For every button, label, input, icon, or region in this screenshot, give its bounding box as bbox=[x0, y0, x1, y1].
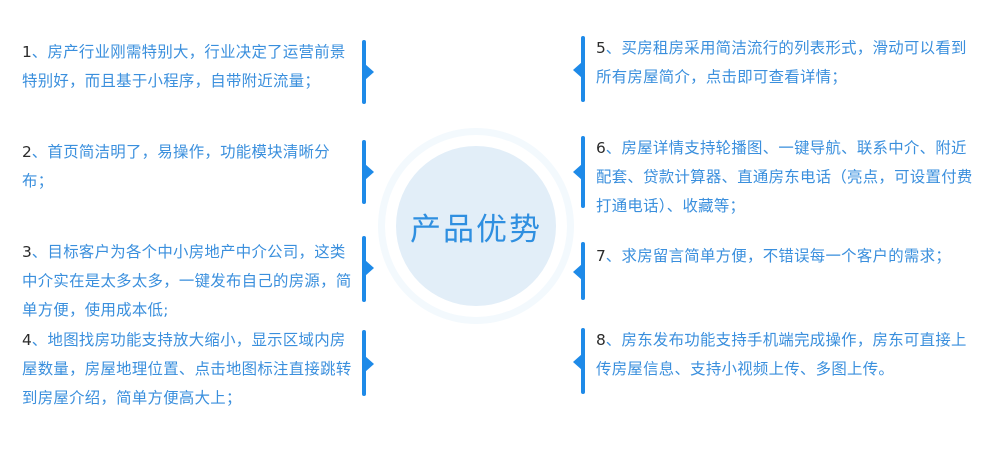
advantage-item-8-body: 房东发布功能支持手机端完成操作，房东可直接上传房屋信息、支持小视频上传、多图上传… bbox=[596, 331, 967, 378]
advantage-item-4-body: 地图找房功能支持放大缩小，显示区域内房屋数量，房屋地理位置、点击地图标注直接跳转… bbox=[22, 331, 352, 407]
advantage-item-2-separator: 、 bbox=[32, 143, 48, 161]
advantage-item-1-text: 1、房产行业刚需特别大，行业决定了运营前景特别好，而且基于小程序，自带附近流量； bbox=[22, 38, 354, 96]
advantage-item-4-separator: 、 bbox=[32, 331, 48, 349]
right-arrow-icon bbox=[365, 356, 374, 372]
advantage-item-8: 8、房东发布功能支持手机端完成操作，房东可直接上传房屋信息、支持小视频上传、多图… bbox=[596, 326, 978, 384]
advantage-item-3-body: 目标客户为各个中小房地产中介公司，这类中介实在是太多太多，一键发布自己的房源，简… bbox=[22, 243, 352, 319]
advantage-item-3: 3、目标客户为各个中小房地产中介公司，这类中介实在是太多太多，一键发布自己的房源… bbox=[22, 238, 360, 325]
advantage-item-2-number: 2 bbox=[22, 143, 32, 161]
connector-bar-7 bbox=[581, 242, 585, 300]
connector-bar-6 bbox=[581, 136, 585, 208]
advantage-item-6-text: 6、房屋详情支持轮播图、一键导航、联系中介、附近配套、贷款计算器、直通房东电话（… bbox=[596, 134, 982, 221]
left-arrow-icon bbox=[573, 264, 582, 280]
connector-bar-5 bbox=[581, 36, 585, 102]
advantage-item-6-body: 房屋详情支持轮播图、一键导航、联系中介、附近配套、贷款计算器、直通房东电话（亮点… bbox=[596, 139, 973, 215]
advantage-item-8-text: 8、房东发布功能支持手机端完成操作，房东可直接上传房屋信息、支持小视频上传、多图… bbox=[596, 326, 978, 384]
advantage-item-2-body: 首页简洁明了，易操作，功能模块清晰分布； bbox=[22, 143, 330, 190]
advantage-item-4: 4、地图找房功能支持放大缩小，显示区域内房屋数量，房屋地理位置、点击地图标注直接… bbox=[22, 326, 354, 413]
right-arrow-icon bbox=[365, 260, 374, 276]
advantage-item-4-text: 4、地图找房功能支持放大缩小，显示区域内房屋数量，房屋地理位置、点击地图标注直接… bbox=[22, 326, 354, 413]
advantage-item-7-text: 7、求房留言简单方便，不错误每一个客户的需求； bbox=[596, 242, 978, 271]
advantage-item-3-text: 3、目标客户为各个中小房地产中介公司，这类中介实在是太多太多，一键发布自己的房源… bbox=[22, 238, 360, 325]
advantage-item-8-number: 8 bbox=[596, 331, 606, 349]
advantage-item-1-separator: 、 bbox=[32, 43, 48, 61]
connector-bar-4 bbox=[362, 330, 366, 396]
left-arrow-icon bbox=[573, 164, 582, 180]
advantage-item-3-number: 3 bbox=[22, 243, 32, 261]
right-arrow-icon bbox=[365, 64, 374, 80]
advantage-item-6: 6、房屋详情支持轮播图、一键导航、联系中介、附近配套、贷款计算器、直通房东电话（… bbox=[596, 134, 982, 221]
advantage-item-7-separator: 、 bbox=[606, 247, 622, 265]
connector-bar-2 bbox=[362, 140, 366, 204]
connector-bar-3 bbox=[362, 236, 366, 302]
right-arrow-icon bbox=[365, 164, 374, 180]
advantage-item-7-number: 7 bbox=[596, 247, 606, 265]
center-circle: 产品优势 bbox=[378, 128, 574, 324]
advantage-item-4-number: 4 bbox=[22, 331, 32, 349]
advantage-item-7-body: 求房留言简单方便，不错误每一个客户的需求； bbox=[622, 247, 952, 265]
advantage-item-6-separator: 、 bbox=[606, 139, 622, 157]
advantage-item-2: 2、首页简洁明了，易操作，功能模块清晰分布； bbox=[22, 138, 354, 196]
advantage-item-8-separator: 、 bbox=[606, 331, 622, 349]
advantage-item-1: 1、房产行业刚需特别大，行业决定了运营前景特别好，而且基于小程序，自带附近流量； bbox=[22, 38, 354, 96]
advantage-item-2-text: 2、首页简洁明了，易操作，功能模块清晰分布； bbox=[22, 138, 354, 196]
advantage-item-1-number: 1 bbox=[22, 43, 32, 61]
connector-bar-1 bbox=[362, 40, 366, 104]
product-advantages-infographic: 产品优势 1、房产行业刚需特别大，行业决定了运营前景特别好，而且基于小程序，自带… bbox=[0, 0, 990, 452]
advantage-item-5: 5、买房租房采用简洁流行的列表形式，滑动可以看到所有房屋简介，点击即可查看详情； bbox=[596, 34, 978, 92]
left-arrow-icon bbox=[573, 62, 582, 78]
advantage-item-5-body: 买房租房采用简洁流行的列表形式，滑动可以看到所有房屋简介，点击即可查看详情； bbox=[596, 39, 967, 86]
advantage-item-1-body: 房产行业刚需特别大，行业决定了运营前景特别好，而且基于小程序，自带附近流量； bbox=[22, 43, 346, 90]
advantage-item-5-text: 5、买房租房采用简洁流行的列表形式，滑动可以看到所有房屋简介，点击即可查看详情； bbox=[596, 34, 978, 92]
circle-inner-disc: 产品优势 bbox=[396, 146, 556, 306]
advantage-item-6-number: 6 bbox=[596, 139, 606, 157]
advantage-item-3-separator: 、 bbox=[32, 243, 48, 261]
advantage-item-5-number: 5 bbox=[596, 39, 606, 57]
left-arrow-icon bbox=[573, 354, 582, 370]
connector-bar-8 bbox=[581, 328, 585, 394]
center-title: 产品优势 bbox=[410, 204, 542, 249]
advantage-item-7: 7、求房留言简单方便，不错误每一个客户的需求； bbox=[596, 242, 978, 271]
advantage-item-5-separator: 、 bbox=[606, 39, 622, 57]
